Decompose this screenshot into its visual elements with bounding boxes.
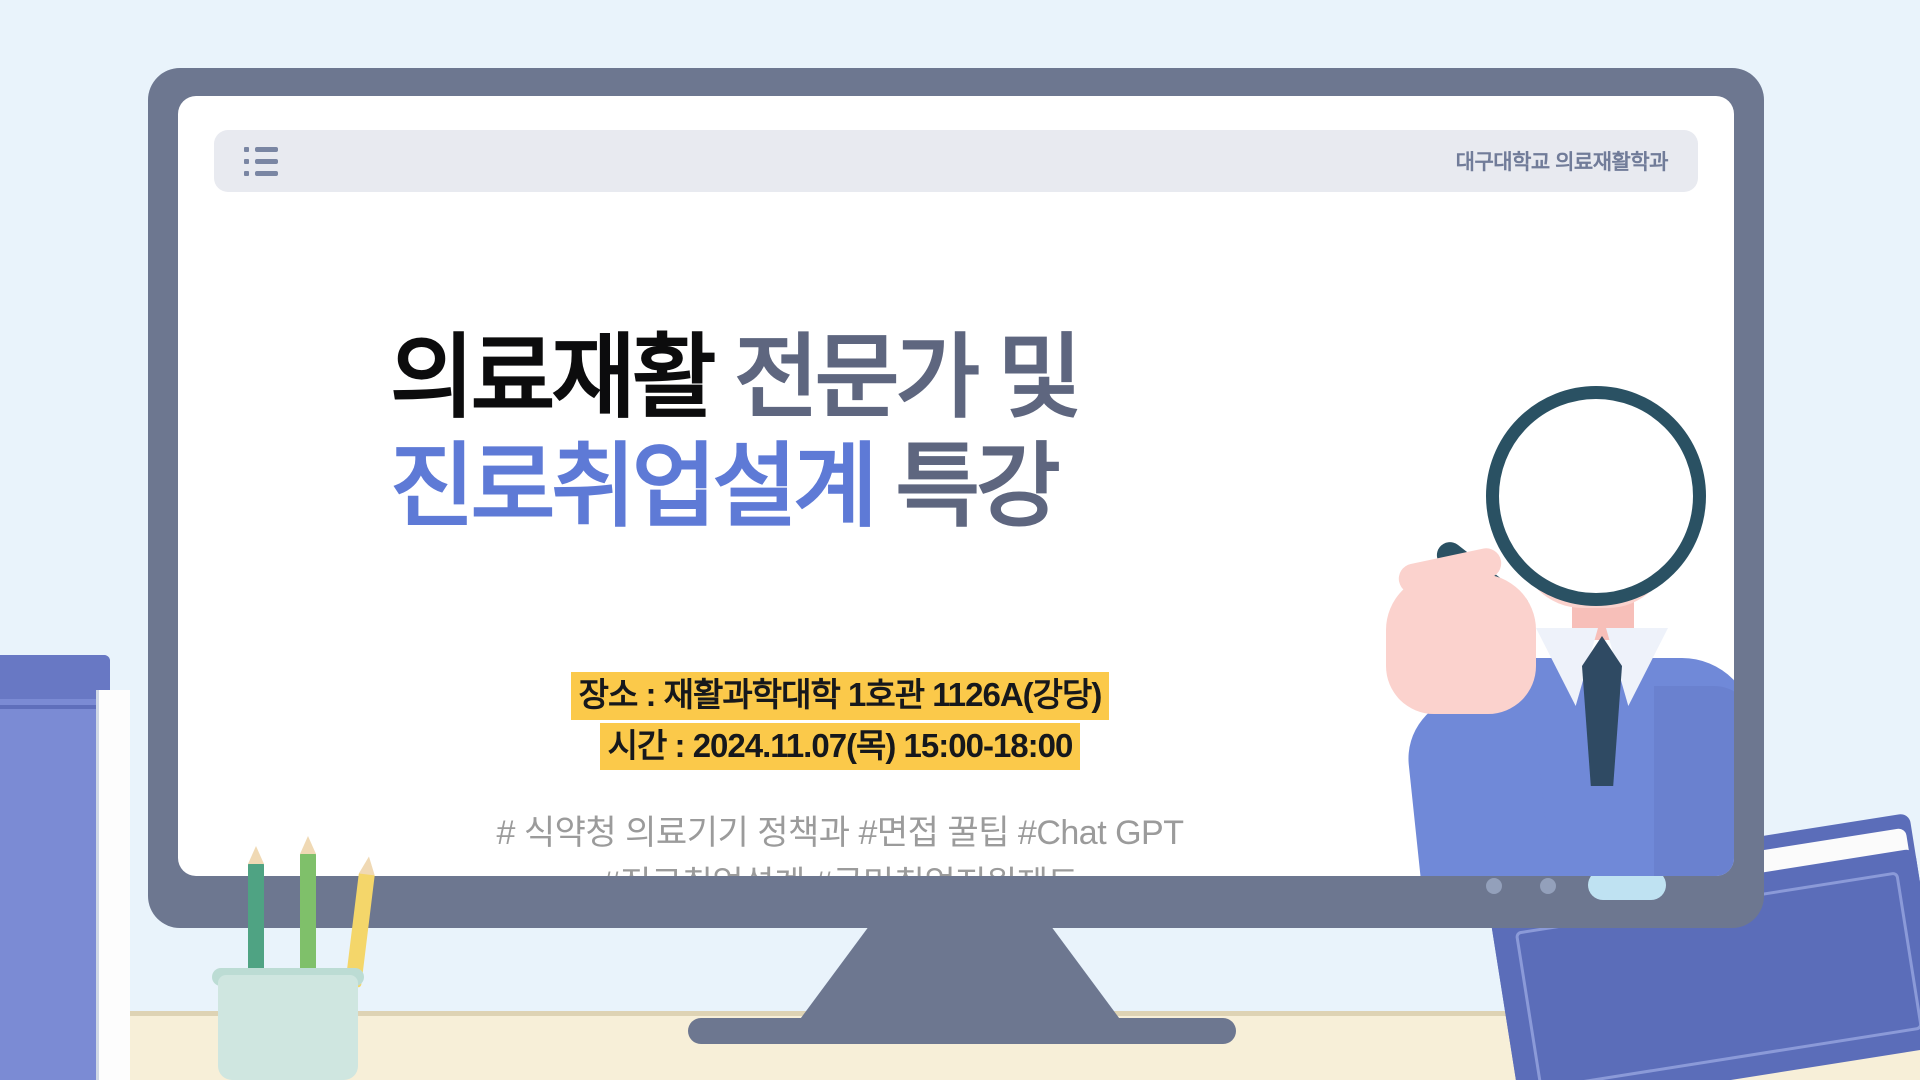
title-line2-rest: 특강 xyxy=(895,436,1056,538)
monitor-indicator-dot-2 xyxy=(1540,878,1556,894)
title-line2-emphasis: 진로취업설계 xyxy=(390,436,874,538)
left-book-pages xyxy=(96,690,130,1080)
illustration-man-with-magnifier xyxy=(1368,396,1734,876)
event-place: 장소 : 재활과학대학 1호관 1126A(강당) xyxy=(571,672,1110,720)
book-cap xyxy=(0,655,110,699)
pencil-cup xyxy=(218,975,358,1080)
monitor-indicator-dot-1 xyxy=(1486,878,1502,894)
title-line-2: 진로취업설계 특강 xyxy=(390,433,1290,542)
monitor-stand-base xyxy=(688,1018,1236,1044)
poster-title: 의료재활 전문가 및 진로취업설계 특강 xyxy=(390,324,1290,541)
magnifier-lens-icon xyxy=(1486,386,1706,606)
title-line1-rest: 전문가 및 xyxy=(734,327,1078,429)
book-line xyxy=(0,705,110,709)
pencil-light-green xyxy=(300,852,316,987)
screen-topbar: 대구대학교 의료재활학과 xyxy=(214,130,1698,192)
title-line1-emphasis: 의료재활 xyxy=(390,327,713,429)
event-time: 시간 : 2024.11.07(목) 15:00-18:00 xyxy=(600,723,1081,771)
hashtag-line-1: # 식약청 의료기기 정책과 #면접 꿀팁 #Chat GPT xyxy=(390,808,1290,859)
illustration-arm xyxy=(1402,690,1555,876)
list-icon[interactable] xyxy=(244,147,278,176)
event-info: 장소 : 재활과학대학 1호관 1126A(강당) 시간 : 2024.11.0… xyxy=(390,672,1290,770)
poster-scene: 대구대학교 의료재활학과 의료재활 전문가 및 진로취업설계 특강 장소 : 재… xyxy=(0,0,1920,1080)
department-label: 대구대학교 의료재활학과 xyxy=(1456,146,1668,176)
illustration-body-shade xyxy=(1654,686,1734,876)
hashtag-block: # 식약청 의료기기 정책과 #면접 꿀팁 #Chat GPT #진로취업설계 … xyxy=(390,808,1290,876)
hashtag-line-2: #진로취업설계 #국민취업지원제도 xyxy=(390,859,1290,876)
monitor-screen: 대구대학교 의료재활학과 의료재활 전문가 및 진로취업설계 특강 장소 : 재… xyxy=(178,96,1734,876)
title-line-1: 의료재활 전문가 및 xyxy=(390,324,1290,433)
monitor: 대구대학교 의료재활학과 의료재활 전문가 및 진로취업설계 특강 장소 : 재… xyxy=(148,68,1764,928)
left-book-stack xyxy=(0,655,110,1080)
